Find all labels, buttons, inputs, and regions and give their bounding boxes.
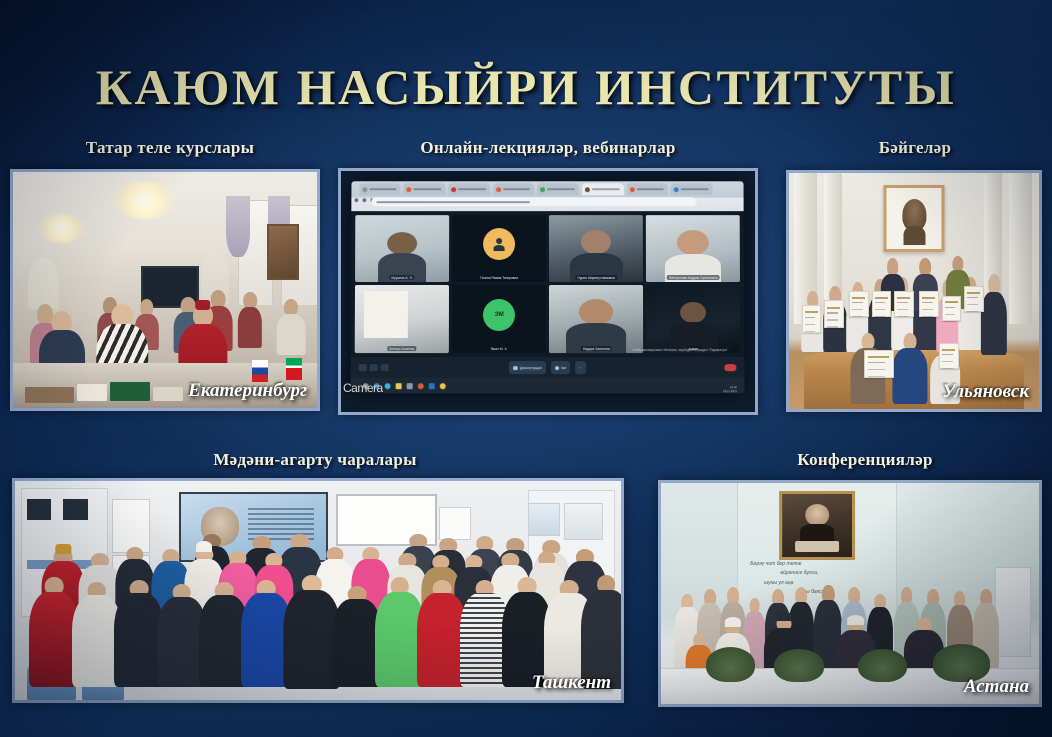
share-screen-icon[interactable] xyxy=(359,364,367,371)
tab-title xyxy=(370,188,398,190)
screen-icon xyxy=(513,365,518,369)
city-label-astana: Астана xyxy=(964,676,1029,698)
hangup-icon[interactable] xyxy=(725,364,737,371)
tab-favicon-icon xyxy=(452,186,457,191)
browser-tabs[interactable] xyxy=(360,183,713,195)
participant-tile[interactable]: Гатина Рамия Тагировна xyxy=(452,214,546,282)
participant-name: Гатина Рамия Тагировна xyxy=(479,275,521,280)
browser-tab[interactable] xyxy=(493,183,535,195)
browser-tab[interactable] xyxy=(360,183,402,195)
photo-online-lectures[interactable]: Мурзина А. Э. Гатина Рамия Тагировна Нур… xyxy=(338,168,758,415)
demonstration-button[interactable]: Демонстрация xyxy=(509,361,546,374)
browser-tab[interactable] xyxy=(627,183,669,195)
photo-competitions[interactable]: Ульяновск xyxy=(786,170,1042,412)
word-icon[interactable] xyxy=(429,382,435,388)
browser-tab[interactable] xyxy=(671,183,713,195)
photo-tatar-language-courses[interactable]: Екатеринбург xyxy=(10,169,320,411)
windows-taskbar: 19:0218.11.2021 xyxy=(351,378,745,393)
framed-portrait xyxy=(884,185,945,252)
tab-title xyxy=(548,188,576,190)
tab-title xyxy=(414,188,442,190)
photo-cultural-events[interactable]: Ташкент xyxy=(12,478,624,703)
tab-favicon-icon xyxy=(407,186,412,191)
avatar xyxy=(483,228,515,260)
tab-favicon-icon xyxy=(674,186,679,191)
city-label-ulyanovsk: Ульяновск xyxy=(942,381,1029,403)
tab-title xyxy=(592,188,620,190)
photo-conferences[interactable]: Берәү чит бер телне өйрәнәсе булса, шуны… xyxy=(658,480,1042,707)
more-label: ··· xyxy=(579,365,582,369)
back-icon[interactable] xyxy=(355,198,359,202)
tab-favicon-icon xyxy=(585,186,590,191)
framed-portrait xyxy=(779,491,855,560)
windows-activation-notice: Чтобы активировать Windows, перейдите в … xyxy=(633,348,729,353)
participant-name: Надира Заитиева xyxy=(581,346,612,351)
demonstration-label: Демонстрация xyxy=(520,365,542,369)
poster-root: КАЮМ НАСЫЙРИ ИНСТИТУТЫ Татар теле курсла… xyxy=(0,0,1052,737)
browser-tab[interactable] xyxy=(449,183,491,195)
participant-name: Нурия Шарипулламовна xyxy=(576,275,617,280)
more-options-button[interactable]: ··· xyxy=(575,361,586,374)
tab-favicon-icon xyxy=(363,186,368,191)
participant-tile-active-speaker[interactable]: Фатхуллова Кадрия Сунгатовна xyxy=(646,214,740,282)
chrome-icon[interactable] xyxy=(440,382,446,388)
browser-tab[interactable] xyxy=(404,183,446,195)
address-bar-url xyxy=(376,201,530,203)
participant-name: Фатхуллова Кадрия Сунгатовна xyxy=(667,275,720,280)
edge-icon[interactable] xyxy=(385,382,391,388)
microphone-icon[interactable] xyxy=(370,364,378,371)
avatar-initials: ЭМ xyxy=(483,299,515,331)
city-label-tashkent: Ташкент xyxy=(532,672,611,694)
tab-title xyxy=(637,188,665,190)
participant-tile[interactable]: Нурия Шарипулламовна xyxy=(549,214,643,282)
participant-grid: Мурзина А. Э. Гатина Рамия Тагировна Нур… xyxy=(351,210,745,356)
city-label-yekaterinburg: Екатеринбург xyxy=(188,380,307,402)
tab-favicon-icon xyxy=(630,186,635,191)
taskbar-clock: 19:0218.11.2021 xyxy=(723,386,737,393)
tab-title xyxy=(681,188,709,190)
participant-name: Мурзина А. Э. xyxy=(390,275,415,280)
section-title-competitions: Бәйгеләр xyxy=(790,138,1040,158)
video-call-screen: Мурзина А. Э. Гатина Рамия Тагировна Нур… xyxy=(351,181,745,393)
person-icon xyxy=(492,237,506,251)
participant-name: Ямал М. Х. xyxy=(489,346,510,351)
tab-title xyxy=(459,188,487,190)
participant-tile[interactable]: Венера Бикеева xyxy=(355,285,449,353)
browser-chrome xyxy=(352,181,745,211)
tab-favicon-icon xyxy=(541,186,546,191)
avatar-initials-text: ЭМ xyxy=(495,312,504,318)
section-title-tatar-language-courses: Татар теле курслары xyxy=(20,138,320,158)
participant-tile[interactable]: Надира Заитиева xyxy=(549,285,643,353)
participant-name: Венера Бикеева xyxy=(388,346,417,351)
page-title: КАЮМ НАСЫЙРИ ИНСТИТУТЫ xyxy=(0,58,1052,116)
camera-icon[interactable] xyxy=(381,364,389,371)
camera-watermark: Camera xyxy=(343,381,383,395)
forward-icon[interactable] xyxy=(363,198,367,202)
participant-tile[interactable]: ЭМ Ямал М. Х. xyxy=(452,285,546,353)
store-icon[interactable] xyxy=(407,382,413,388)
section-title-online-lectures: Онлайн-лекцияләр, вебинарлар xyxy=(358,138,738,158)
chat-button[interactable]: Чат xyxy=(551,361,570,374)
call-toolbar: Демонстрация Чат ··· xyxy=(351,357,745,378)
participant-tile[interactable]: Мурзина А. Э. xyxy=(355,214,449,282)
tab-title xyxy=(503,188,531,190)
folder-icon[interactable] xyxy=(396,382,402,388)
mail-icon[interactable] xyxy=(418,382,424,388)
browser-tab-active[interactable] xyxy=(582,183,624,195)
section-title-cultural-events: Мәдәни-агарту чаралары xyxy=(90,450,540,470)
chat-label: Чат xyxy=(561,365,566,369)
section-title-conferences: Конференцияләр xyxy=(700,450,1030,470)
chat-icon xyxy=(555,365,559,369)
participant-tile[interactable]: Алмаз xyxy=(647,285,741,353)
tab-favicon-icon xyxy=(496,186,501,191)
browser-tab[interactable] xyxy=(538,183,580,195)
address-bar[interactable] xyxy=(371,197,697,206)
